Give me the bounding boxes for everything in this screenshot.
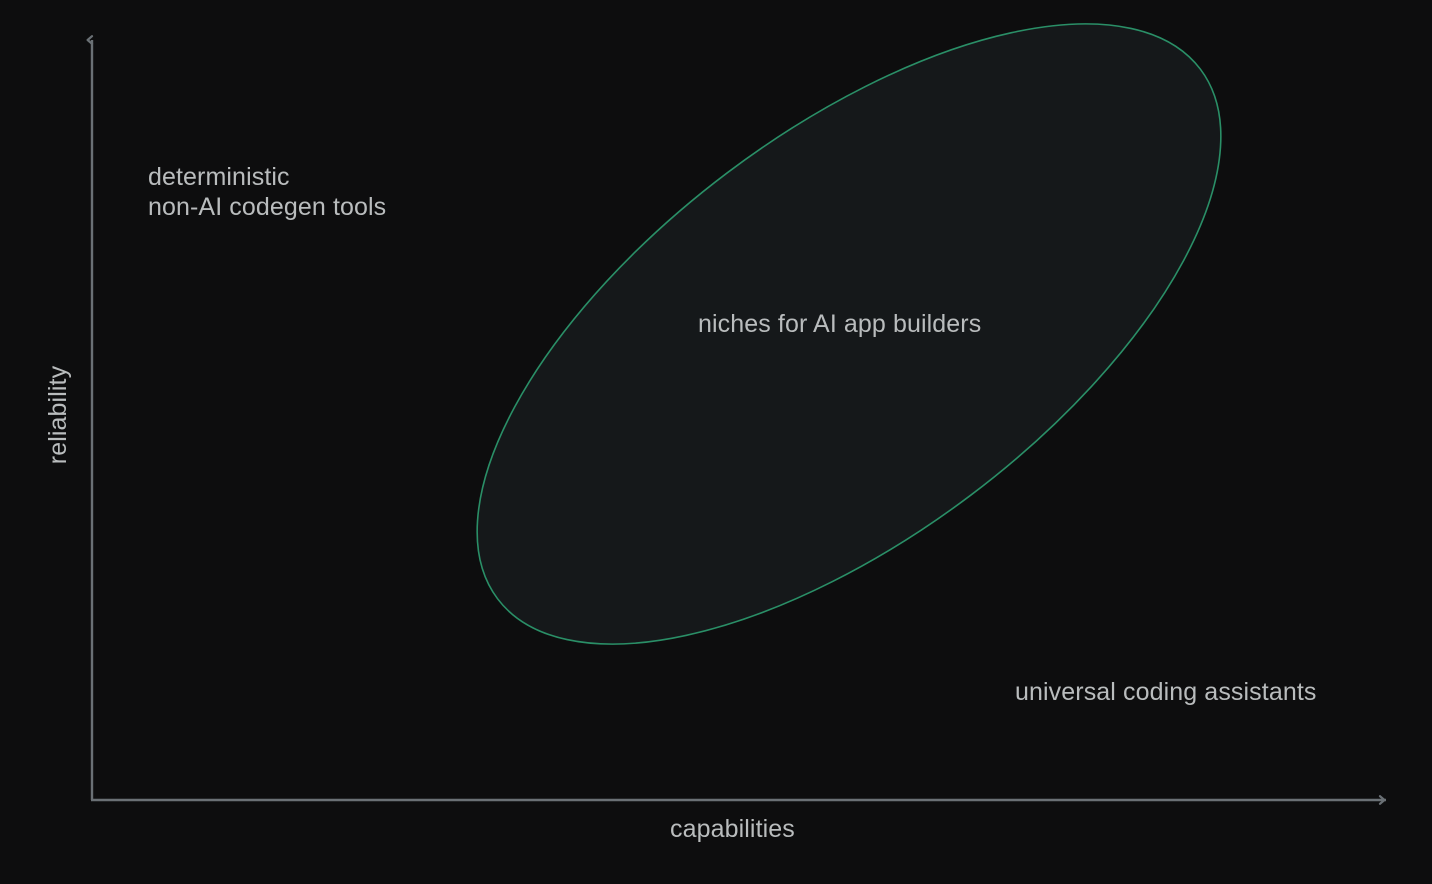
diagram-canvas: deterministicnon-AI codegen tools niches… bbox=[0, 0, 1432, 884]
diagram-svg bbox=[0, 0, 1432, 884]
annotation-line-2: non-AI codegen tools bbox=[148, 193, 386, 221]
annotation-universal-coding-assistants: universal coding assistants bbox=[1015, 677, 1316, 707]
annotation-niches-for-ai-app-builders: niches for AI app builders bbox=[698, 309, 981, 339]
annotation-deterministic-non-ai-codegen-tools: deterministicnon-AI codegen tools bbox=[148, 162, 386, 222]
x-axis-label: capabilities bbox=[670, 814, 795, 844]
niche-region-group bbox=[376, 0, 1322, 760]
annotation-line-1: deterministic bbox=[148, 163, 290, 191]
y-axis-label: reliability bbox=[43, 345, 73, 485]
niche-region-ellipse bbox=[376, 0, 1322, 760]
